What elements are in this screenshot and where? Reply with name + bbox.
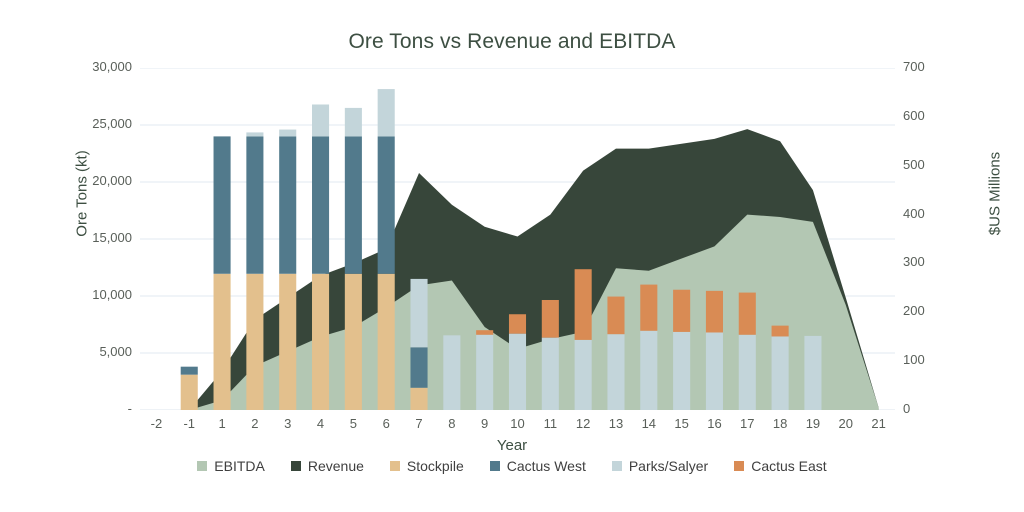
legend-swatch-icon bbox=[197, 461, 207, 471]
y-axis-left-tick-label: 10,000 bbox=[92, 287, 132, 302]
plot-svg bbox=[140, 68, 895, 410]
y-axis-right-tick-label: 600 bbox=[903, 108, 925, 123]
x-axis-tick-label: 1 bbox=[218, 416, 225, 431]
x-axis-tick-label: 19 bbox=[806, 416, 820, 431]
bar-segment bbox=[476, 330, 493, 335]
bar-segment bbox=[312, 104, 329, 136]
bar-segment bbox=[542, 300, 559, 338]
legend-item[interactable]: Revenue bbox=[291, 458, 364, 474]
bar-segment bbox=[246, 274, 263, 410]
bar-segment bbox=[279, 136, 296, 273]
x-axis-tick-label: 15 bbox=[674, 416, 688, 431]
bar-segment bbox=[476, 335, 493, 410]
bar-segment bbox=[509, 334, 526, 410]
y-axis-left-tick-label: - bbox=[128, 401, 132, 416]
bar-segment bbox=[345, 274, 362, 410]
x-axis-ticks: -2-1123456789101112131415161718192021 bbox=[140, 416, 895, 436]
legend-item[interactable]: EBITDA bbox=[197, 458, 265, 474]
y-axis-right-ticks: 0100200300400500600700 bbox=[903, 68, 963, 410]
legend-label: EBITDA bbox=[214, 458, 265, 474]
bar-segment bbox=[214, 136, 231, 273]
bar-segment bbox=[772, 336, 789, 410]
bar-segment bbox=[673, 332, 690, 410]
bar-segment bbox=[378, 89, 395, 136]
x-axis-tick-label: 6 bbox=[383, 416, 390, 431]
bar-segment bbox=[607, 297, 624, 335]
y-axis-right-tick-label: 200 bbox=[903, 303, 925, 318]
x-axis-tick-label: 2 bbox=[251, 416, 258, 431]
y-axis-left-tick-label: 30,000 bbox=[92, 59, 132, 74]
bar-segment bbox=[279, 274, 296, 410]
bar-segment bbox=[706, 332, 723, 410]
x-axis-tick-label: 11 bbox=[544, 416, 558, 431]
x-axis-tick-label: -2 bbox=[151, 416, 163, 431]
legend-label: Cactus West bbox=[507, 458, 586, 474]
x-axis-tick-label: 14 bbox=[642, 416, 656, 431]
bar-segment bbox=[378, 136, 395, 273]
x-axis-tick-label: 16 bbox=[707, 416, 721, 431]
x-axis-title: Year bbox=[0, 437, 1024, 454]
legend-label: Revenue bbox=[308, 458, 364, 474]
x-axis-tick-label: 9 bbox=[481, 416, 488, 431]
y-axis-left-tick-label: 25,000 bbox=[92, 116, 132, 131]
x-axis-tick-label: 8 bbox=[448, 416, 455, 431]
chart-container: Ore Tons vs Revenue and EBITDA -5,00010,… bbox=[0, 0, 1024, 512]
y-axis-right-tick-label: 300 bbox=[903, 254, 925, 269]
legend-item[interactable]: Cactus West bbox=[490, 458, 586, 474]
legend-item[interactable]: Stockpile bbox=[390, 458, 464, 474]
bar-segment bbox=[345, 136, 362, 273]
bar-segment bbox=[214, 274, 231, 410]
x-axis-tick-label: 7 bbox=[415, 416, 422, 431]
bar-segment bbox=[378, 274, 395, 410]
bar-segment bbox=[181, 367, 198, 375]
x-axis-tick-label: 10 bbox=[510, 416, 524, 431]
bar-segment bbox=[312, 274, 329, 410]
y-axis-left-title: Ore Tons (kt) bbox=[74, 104, 91, 284]
legend-item[interactable]: Parks/Salyer bbox=[612, 458, 708, 474]
y-axis-right-tick-label: 0 bbox=[903, 401, 910, 416]
bar-segment bbox=[246, 136, 263, 273]
y-axis-right-tick-label: 500 bbox=[903, 157, 925, 172]
x-axis-tick-label: 13 bbox=[609, 416, 623, 431]
bar-segment bbox=[575, 340, 592, 410]
bar-segment bbox=[181, 375, 198, 410]
bar-segment bbox=[443, 335, 460, 410]
x-axis-tick-label: 3 bbox=[284, 416, 291, 431]
bar-segment bbox=[739, 335, 756, 410]
bar-segment bbox=[312, 136, 329, 273]
legend-swatch-icon bbox=[390, 461, 400, 471]
bar-segment bbox=[410, 347, 427, 387]
legend-item[interactable]: Cactus East bbox=[734, 458, 826, 474]
bar-segment bbox=[772, 326, 789, 337]
bar-segment bbox=[739, 293, 756, 335]
legend-swatch-icon bbox=[734, 461, 744, 471]
x-axis-tick-label: 5 bbox=[350, 416, 357, 431]
bar-segment bbox=[640, 331, 657, 410]
legend-label: Cactus East bbox=[751, 458, 826, 474]
bar-segment bbox=[804, 336, 821, 410]
legend-swatch-icon bbox=[490, 461, 500, 471]
x-axis-tick-label: 4 bbox=[317, 416, 324, 431]
y-axis-right-tick-label: 700 bbox=[903, 59, 925, 74]
bar-segment bbox=[410, 388, 427, 410]
bar-segment bbox=[246, 132, 263, 136]
x-axis-tick-label: 18 bbox=[773, 416, 787, 431]
legend-label: Stockpile bbox=[407, 458, 464, 474]
bar-segment bbox=[542, 338, 559, 410]
legend-swatch-icon bbox=[291, 461, 301, 471]
legend-label: Parks/Salyer bbox=[629, 458, 708, 474]
bar-segment bbox=[640, 285, 657, 331]
x-axis-tick-label: 17 bbox=[740, 416, 754, 431]
bar-segment bbox=[607, 334, 624, 410]
bar-segment bbox=[279, 130, 296, 137]
chart-legend: EBITDARevenueStockpileCactus WestParks/S… bbox=[0, 458, 1024, 474]
bar-segment bbox=[410, 279, 427, 347]
y-axis-right-tick-label: 400 bbox=[903, 206, 925, 221]
legend-swatch-icon bbox=[612, 461, 622, 471]
bar-segment bbox=[575, 269, 592, 340]
y-axis-right-tick-label: 100 bbox=[903, 352, 925, 367]
y-axis-right-title: $US Millions bbox=[987, 104, 1004, 284]
bar-segment bbox=[345, 108, 362, 136]
y-axis-left-tick-label: 15,000 bbox=[92, 230, 132, 245]
x-axis-tick-label: 12 bbox=[576, 416, 590, 431]
y-axis-left-tick-label: 20,000 bbox=[92, 173, 132, 188]
plot-area bbox=[140, 68, 895, 410]
bar-segment bbox=[706, 291, 723, 333]
x-axis-tick-label: 21 bbox=[871, 416, 885, 431]
x-axis-tick-label: 20 bbox=[839, 416, 853, 431]
bar-segment bbox=[509, 314, 526, 333]
chart-title: Ore Tons vs Revenue and EBITDA bbox=[0, 30, 1024, 54]
y-axis-left-tick-label: 5,000 bbox=[99, 344, 132, 359]
bar-segment bbox=[673, 290, 690, 332]
x-axis-tick-label: -1 bbox=[183, 416, 195, 431]
